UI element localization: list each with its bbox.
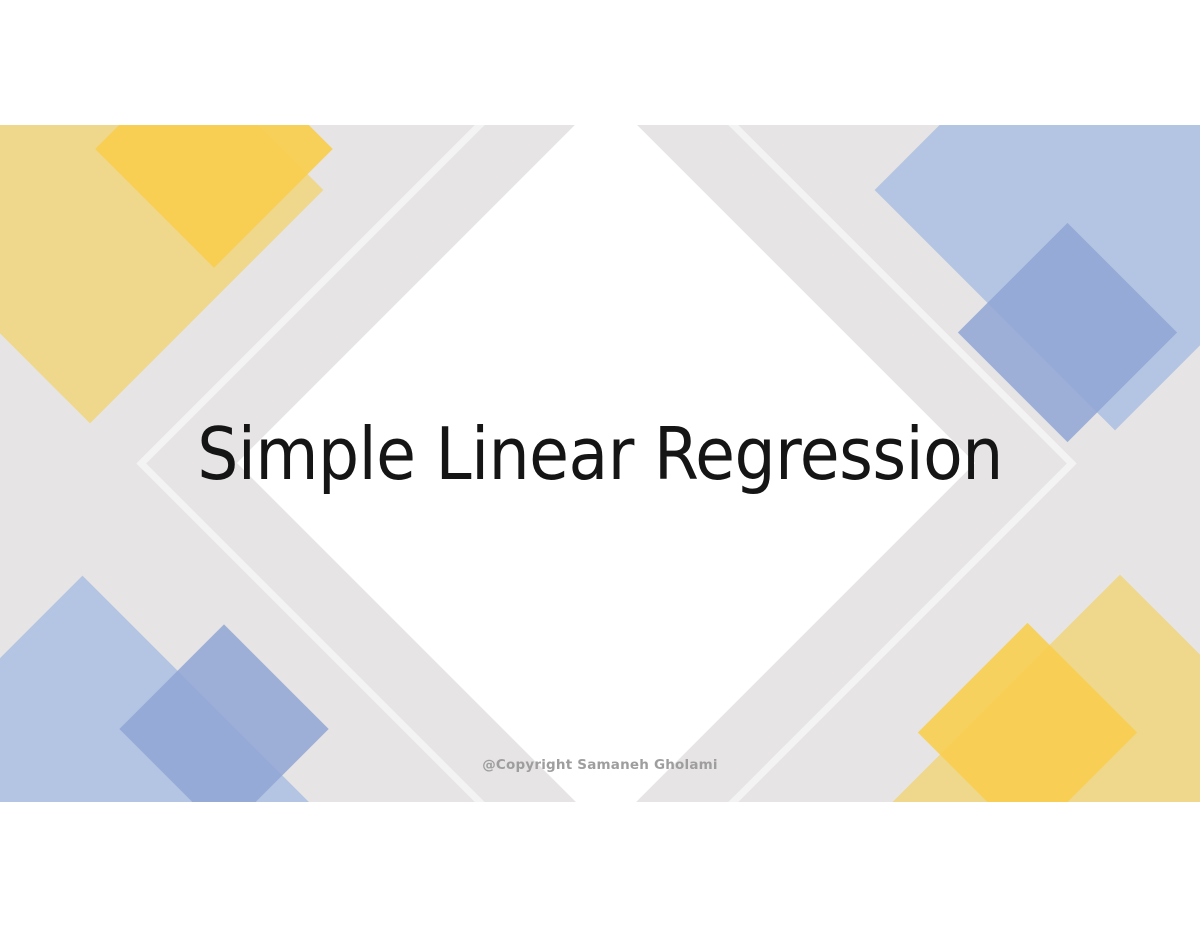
slide-title: Simple Linear Regression <box>0 415 1200 494</box>
presentation-slide: Simple Linear Regression @Copyright Sama… <box>0 125 1200 802</box>
slide-page: Simple Linear Regression @Copyright Sama… <box>0 0 1200 927</box>
copyright-footer: @Copyright Samaneh Gholami <box>0 757 1200 773</box>
